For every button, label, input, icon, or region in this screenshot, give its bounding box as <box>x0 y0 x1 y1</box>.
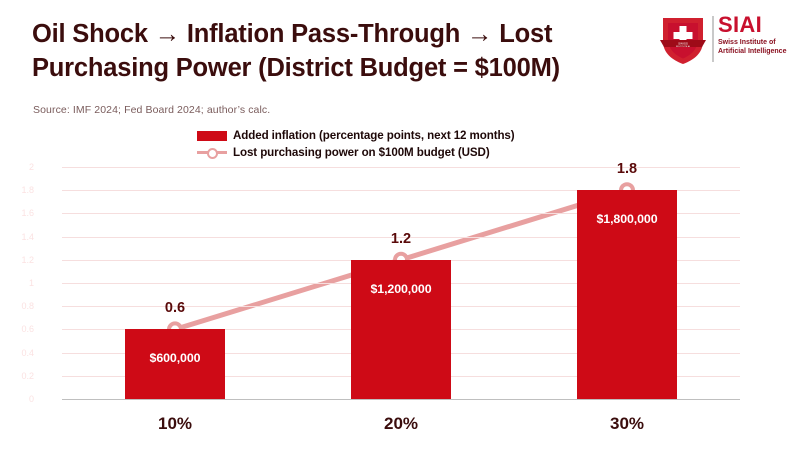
logo-subtitle: Swiss Institute of Artificial Intelligen… <box>718 39 790 57</box>
y-axis-left-tick: 1.4 <box>0 232 34 242</box>
chart-legend: Added inflation (percentage points, next… <box>197 127 617 161</box>
logo-wordmark: SIAI Swiss Institute of Artificial Intel… <box>718 14 790 57</box>
line-point-label: 0.6 <box>165 300 185 316</box>
page-title: Oil Shock → Inflation Pass-Through → Los… <box>32 18 642 85</box>
legend-line-swatch-icon <box>197 147 227 159</box>
x-axis-label: 10% <box>158 414 192 434</box>
siai-logo: SWISS INSTITUTE AI SIAI Swiss Institute … <box>660 14 788 66</box>
plot-area: 0$00.2$200,0000.4$400,0000.6$600,0000.8$… <box>62 167 740 399</box>
line-point-label: 1.2 <box>391 231 411 247</box>
svg-text:INSTITUTE AI: INSTITUTE AI <box>676 45 690 48</box>
chart-plot: 0$00.2$200,0000.4$400,0000.6$600,0000.8$… <box>0 160 800 410</box>
legend-label-bar: Added inflation (percentage points, next… <box>233 129 515 142</box>
logo-divider <box>712 16 714 62</box>
bar-20pct[interactable]: $1,200,000 <box>351 260 451 399</box>
x-axis-label: 20% <box>384 414 418 434</box>
bar-value-label: $600,000 <box>125 351 225 365</box>
gridline <box>62 167 740 168</box>
y-axis-left-tick: 0.8 <box>0 301 34 311</box>
legend-item-bar[interactable]: Added inflation (percentage points, next… <box>197 127 617 144</box>
y-axis-left-tick: 1.8 <box>0 185 34 195</box>
y-axis-left-tick: 1.2 <box>0 255 34 265</box>
y-axis-left-tick: 0.2 <box>0 371 34 381</box>
y-axis-left-tick: 1 <box>0 278 34 288</box>
logo-name: SIAI <box>718 14 790 36</box>
bar-30pct[interactable]: $1,800,000 <box>577 190 677 399</box>
y-axis-left-tick: 2 <box>0 162 34 172</box>
axis-baseline <box>62 399 740 400</box>
y-axis-left-tick: 0.4 <box>0 348 34 358</box>
legend-label-line: Lost purchasing power on $100M budget (U… <box>233 146 490 159</box>
logo-subtitle-line1: Swiss Institute of <box>718 39 790 48</box>
x-axis-labels: 10%20%30% <box>62 412 740 444</box>
swiss-shield-cross-icon: SWISS INSTITUTE AI <box>660 15 706 65</box>
source-note: Source: IMF 2024; Fed Board 2024; author… <box>33 104 270 116</box>
y-axis-left-tick: 1.6 <box>0 208 34 218</box>
y-axis-left-tick: 0 <box>0 394 34 404</box>
x-axis-label: 30% <box>610 414 644 434</box>
logo-subtitle-line2: Artificial Intelligence <box>718 48 790 57</box>
line-point-label: 1.8 <box>617 161 637 177</box>
bar-value-label: $1,800,000 <box>577 212 677 226</box>
bar-10pct[interactable]: $600,000 <box>125 329 225 399</box>
y-axis-left-tick: 0.6 <box>0 324 34 334</box>
legend-bar-swatch-icon <box>197 131 227 141</box>
chart-header: Oil Shock → Inflation Pass-Through → Los… <box>0 0 800 122</box>
legend-item-line[interactable]: Lost purchasing power on $100M budget (U… <box>197 144 617 161</box>
bar-value-label: $1,200,000 <box>351 282 451 296</box>
